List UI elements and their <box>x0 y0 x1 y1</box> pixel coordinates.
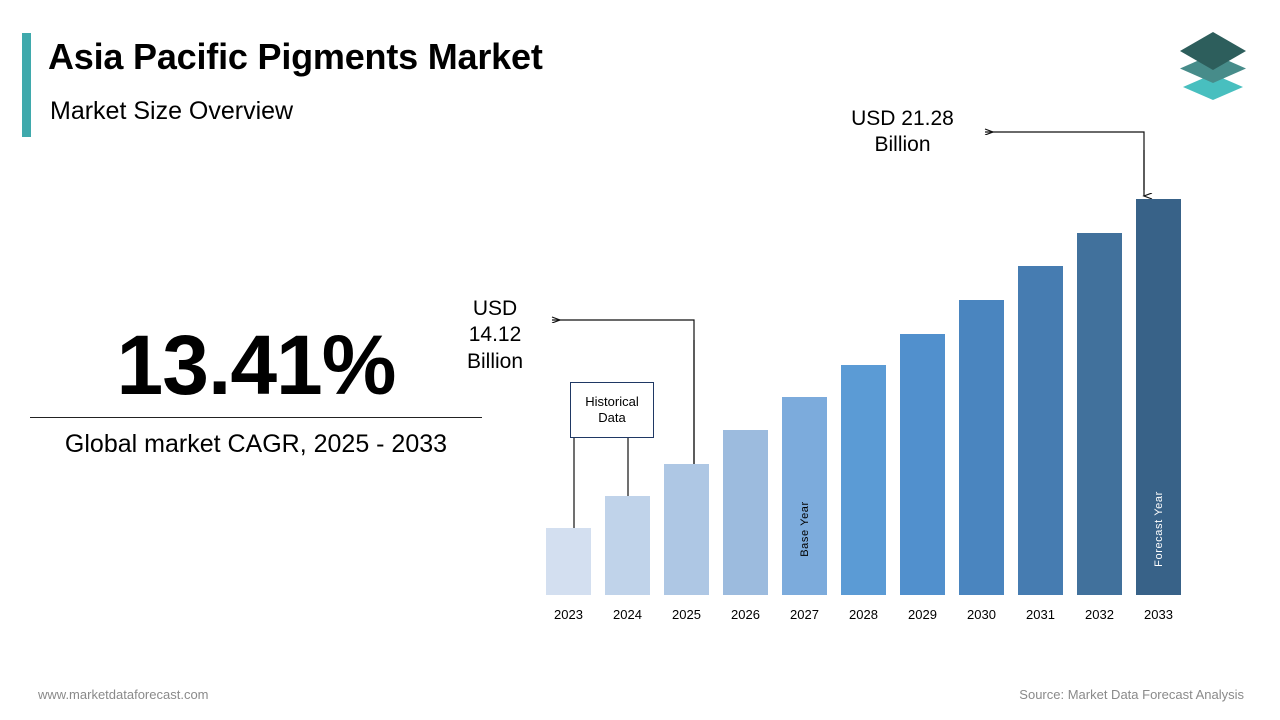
bar-column: 2023 <box>546 190 591 630</box>
bar-inline-label-2033: Forecast Year <box>1153 491 1165 567</box>
year-label-2027: 2027 <box>782 607 827 622</box>
year-label-2030: 2030 <box>959 607 1004 622</box>
bar-2027: Base Year <box>782 397 827 595</box>
year-label-2029: 2029 <box>900 607 945 622</box>
cagr-caption: Global market CAGR, 2025 - 2033 <box>30 428 482 461</box>
bar-2030 <box>959 300 1004 595</box>
page-subtitle: Market Size Overview <box>50 97 293 126</box>
bar-column: Forecast Year2033 <box>1136 190 1181 630</box>
year-label-2031: 2031 <box>1018 607 1063 622</box>
bar-2028 <box>841 365 886 595</box>
bar-column: 2031 <box>1018 190 1063 630</box>
market-size-bar-chart: 2023202420252026Base Year202720282029203… <box>546 190 1166 630</box>
start-value-callout: USD 14.12 Billion <box>450 296 540 375</box>
footer-source: Source: Market Data Forecast Analysis <box>1019 687 1244 702</box>
bar-column: 2025 <box>664 190 709 630</box>
bar-inline-label-2027: Base Year <box>799 501 811 557</box>
bar-column: 2028 <box>841 190 886 630</box>
bar-column: 2026 <box>723 190 768 630</box>
year-label-2028: 2028 <box>841 607 886 622</box>
year-label-2033: 2033 <box>1136 607 1181 622</box>
bar-2031 <box>1018 266 1063 595</box>
year-label-2026: 2026 <box>723 607 768 622</box>
bar-column: 2029 <box>900 190 945 630</box>
year-label-2032: 2032 <box>1077 607 1122 622</box>
bar-column: 2032 <box>1077 190 1122 630</box>
year-label-2024: 2024 <box>605 607 650 622</box>
page-title: Asia Pacific Pigments Market <box>48 36 543 77</box>
end-value-callout: USD 21.28 Billion <box>795 106 1010 159</box>
cagr-divider <box>30 417 482 418</box>
footer-website: www.marketdataforecast.com <box>38 687 209 702</box>
year-label-2023: 2023 <box>546 607 591 622</box>
year-label-2025: 2025 <box>664 607 709 622</box>
header-accent-bar <box>22 33 31 137</box>
bar-2033: Forecast Year <box>1136 199 1181 595</box>
stacked-layers-logo <box>1174 28 1252 102</box>
stacked-layers-icon <box>1174 28 1252 102</box>
cagr-value: 13.41% <box>30 320 482 411</box>
bar-2026 <box>723 430 768 595</box>
bar-2032 <box>1077 233 1122 595</box>
bar-column: Base Year2027 <box>782 190 827 630</box>
bar-column: 2024 <box>605 190 650 630</box>
bar-2024 <box>605 496 650 595</box>
bar-2029 <box>900 334 945 595</box>
bar-2025 <box>664 464 709 595</box>
bar-2023 <box>546 528 591 595</box>
cagr-block: 13.41% Global market CAGR, 2025 - 2033 <box>30 320 482 461</box>
bar-column: 2030 <box>959 190 1004 630</box>
